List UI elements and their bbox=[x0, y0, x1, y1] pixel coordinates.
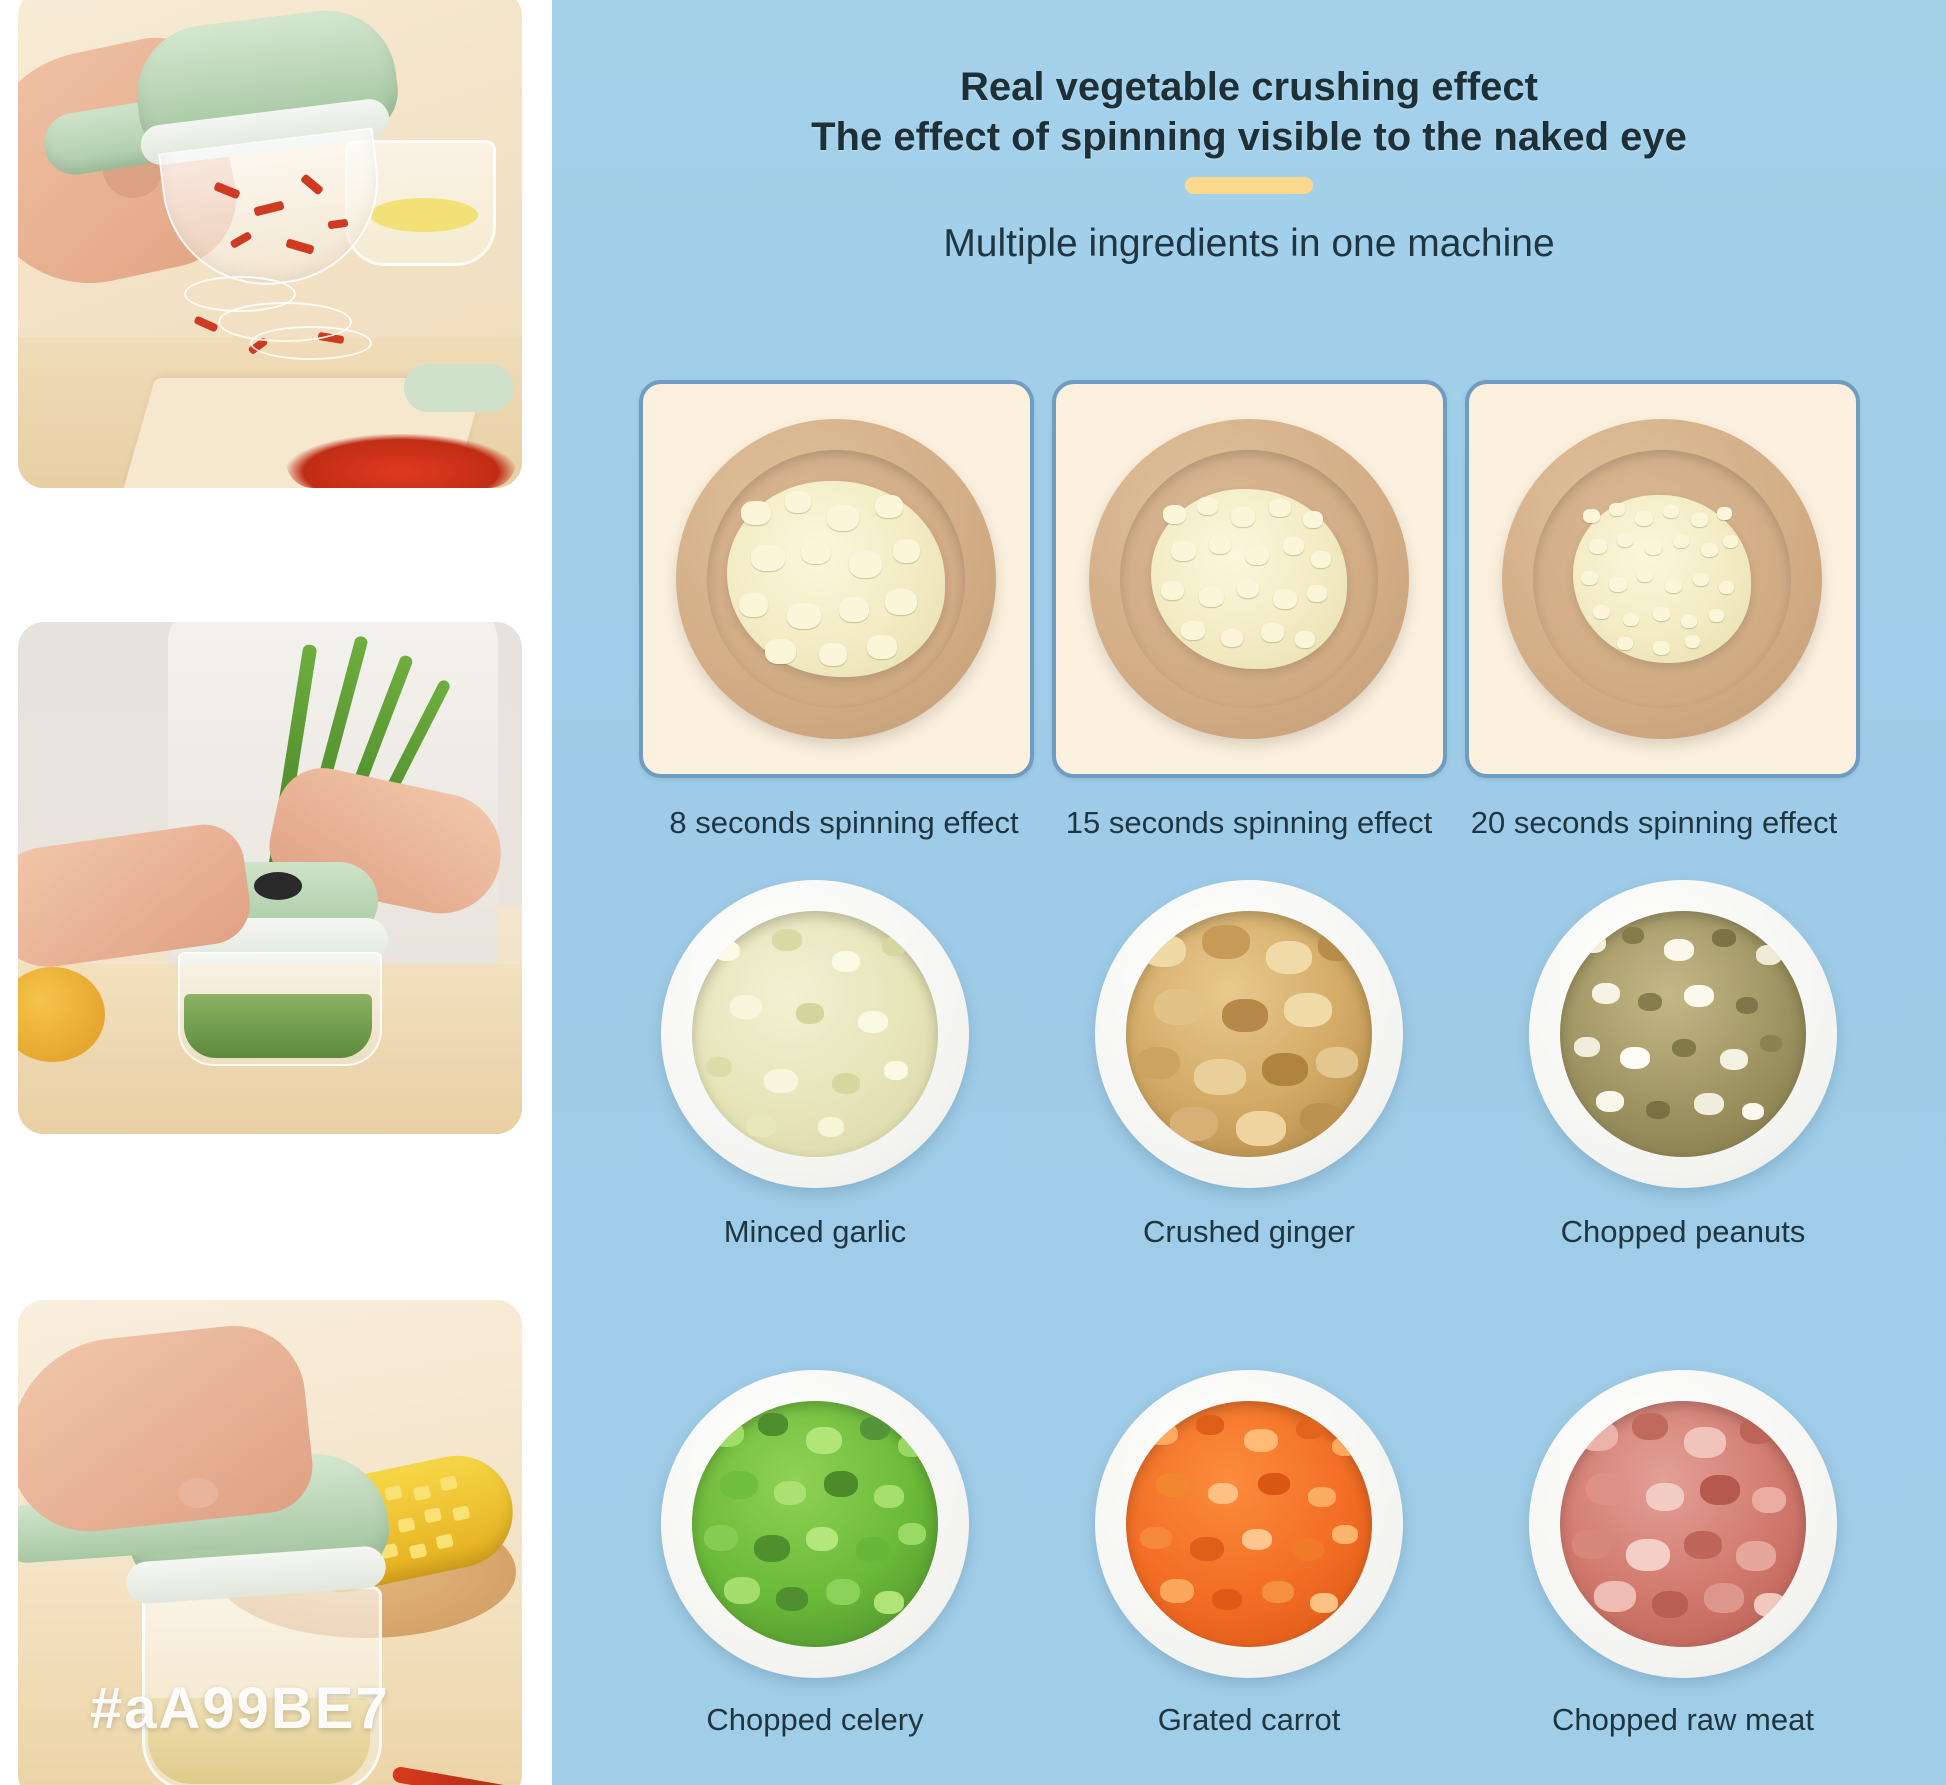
photo-chopper-garlic-corn[interactable]: #aA99BE7 bbox=[18, 1300, 522, 1785]
watermark-text: #aA99BE7 bbox=[90, 1675, 390, 1742]
white-bowl bbox=[1095, 1370, 1403, 1678]
food-crushed-ginger bbox=[1126, 911, 1372, 1157]
wooden-plate bbox=[1502, 419, 1822, 739]
left-photo-gallery: #aA99BE7 bbox=[0, 0, 552, 1785]
food-chopped-celery bbox=[692, 1401, 938, 1647]
photo-chopper-scallions[interactable] bbox=[18, 622, 522, 1134]
yellow-divider bbox=[1185, 177, 1313, 194]
minced-garlic-pile bbox=[1573, 495, 1751, 663]
food-chopped-peanuts bbox=[1560, 911, 1806, 1157]
minced-garlic-pile bbox=[727, 481, 945, 677]
sub-heading: Multiple ingredients in one machine bbox=[552, 222, 1946, 266]
spin-card-15s[interactable] bbox=[1052, 380, 1447, 778]
food-grated-carrot bbox=[1126, 1401, 1372, 1647]
bowl-label-minced-garlic: Minced garlic bbox=[639, 1214, 991, 1250]
plate-inner bbox=[1533, 450, 1791, 708]
bowl-cell-chopped-raw-meat[interactable]: Chopped raw meat bbox=[1507, 1370, 1859, 1738]
ingredient-row-1: Minced garlic bbox=[552, 880, 1946, 1250]
spin-caption-20s: 20 seconds spinning effect bbox=[1461, 805, 1848, 841]
main-heading: Real vegetable crushing effect The effec… bbox=[552, 62, 1946, 162]
food-chopped-raw-meat bbox=[1560, 1401, 1806, 1647]
bowl-label-chopped-celery: Chopped celery bbox=[639, 1702, 991, 1738]
minced-garlic-pile bbox=[1151, 489, 1347, 669]
white-bowl bbox=[661, 880, 969, 1188]
bowl-label-grated-carrot: Grated carrot bbox=[1073, 1702, 1425, 1738]
heading-line-1: Real vegetable crushing effect bbox=[960, 65, 1538, 109]
food-minced-garlic bbox=[692, 911, 938, 1157]
bowl-cell-chopped-celery[interactable]: Chopped celery bbox=[639, 1370, 991, 1738]
white-bowl bbox=[1529, 1370, 1837, 1678]
plate-inner bbox=[707, 450, 965, 708]
white-bowl bbox=[661, 1370, 969, 1678]
bowl-cell-crushed-ginger[interactable]: Crushed ginger bbox=[1073, 880, 1425, 1250]
ingredient-row-2: Chopped celery bbox=[552, 1370, 1946, 1738]
spin-caption-row: 8 seconds spinning effect 15 seconds spi… bbox=[552, 805, 1946, 841]
plate-inner bbox=[1120, 450, 1378, 708]
product-infographic: #aA99BE7 Real vegetable crushing effect … bbox=[0, 0, 1946, 1785]
spin-effect-card-row bbox=[552, 380, 1946, 778]
wooden-plate bbox=[676, 419, 996, 739]
white-bowl bbox=[1095, 880, 1403, 1188]
bowl-label-crushed-ginger: Crushed ginger bbox=[1073, 1214, 1425, 1250]
spin-caption-15s: 15 seconds spinning effect bbox=[1056, 805, 1443, 841]
spin-card-20s[interactable] bbox=[1465, 380, 1860, 778]
spin-caption-8s: 8 seconds spinning effect bbox=[651, 805, 1038, 841]
heading-line-2: The effect of spinning visible to the na… bbox=[552, 112, 1946, 162]
bowl-cell-chopped-peanuts[interactable]: Chopped peanuts bbox=[1507, 880, 1859, 1250]
bowl-label-chopped-peanuts: Chopped peanuts bbox=[1507, 1214, 1859, 1250]
photo-chopper-pouring-chili[interactable] bbox=[18, 0, 522, 488]
bowl-label-chopped-raw-meat: Chopped raw meat bbox=[1507, 1702, 1859, 1738]
wooden-plate bbox=[1089, 419, 1409, 739]
bowl-cell-grated-carrot[interactable]: Grated carrot bbox=[1073, 1370, 1425, 1738]
right-content-panel: Real vegetable crushing effect The effec… bbox=[552, 0, 1946, 1785]
bowl-cell-minced-garlic[interactable]: Minced garlic bbox=[639, 880, 991, 1250]
spin-card-8s[interactable] bbox=[639, 380, 1034, 778]
white-bowl bbox=[1529, 880, 1837, 1188]
